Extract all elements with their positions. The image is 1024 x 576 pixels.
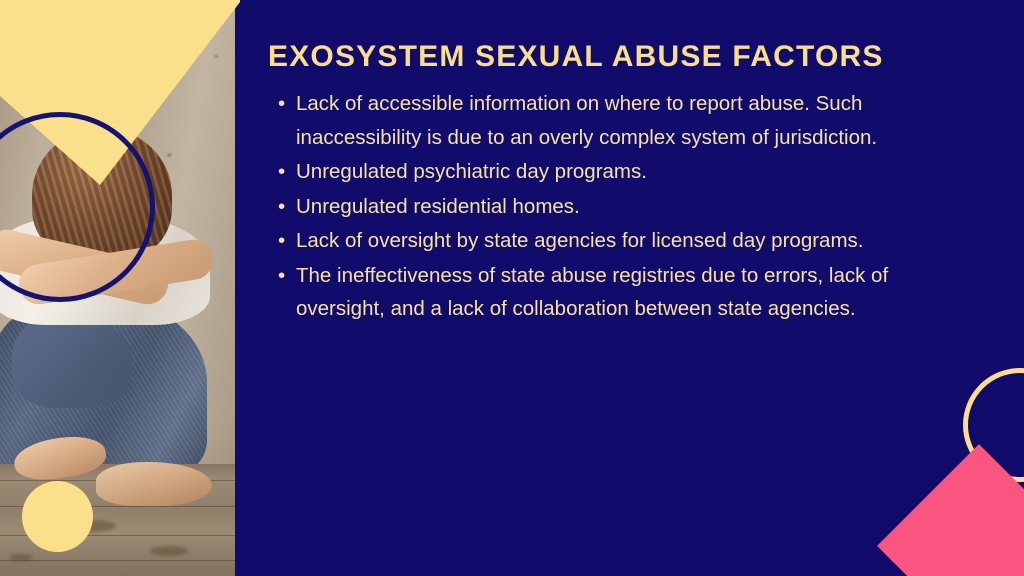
circle-solid-yellow-decoration [22, 481, 93, 552]
presentation-slide: EXOSYSTEM SEXUAL ABUSE FACTORS Lack of a… [0, 0, 1024, 576]
slide-title: EXOSYSTEM SEXUAL ABUSE FACTORS [268, 40, 978, 73]
bullet-item: Unregulated psychiatric day programs. [268, 155, 978, 189]
bullet-item: The ineffectiveness of state abuse regis… [268, 259, 978, 326]
bullet-item: Lack of accessible information on where … [268, 87, 978, 154]
bullet-item: Lack of oversight by state agencies for … [268, 224, 978, 258]
slide-content: EXOSYSTEM SEXUAL ABUSE FACTORS Lack of a… [268, 40, 978, 327]
bullet-item: Unregulated residential homes. [268, 190, 978, 224]
slide-bullet-list: Lack of accessible information on where … [268, 87, 978, 326]
